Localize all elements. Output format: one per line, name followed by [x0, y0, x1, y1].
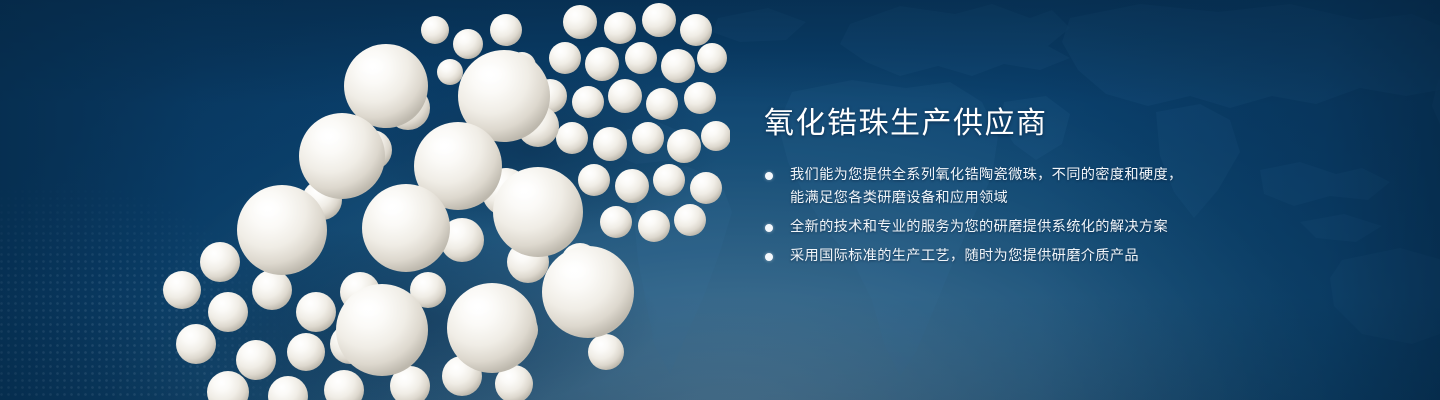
hero-banner: 氧化锆珠生产供应商 我们能为您提供全系列氧化锆陶瓷微珠，不同的密度和硬度， 能满… — [0, 0, 1440, 400]
list-item-line: 能满足您各类研磨设备和应用领域 — [790, 187, 1234, 210]
list-item: 我们能为您提供全系列氧化锆陶瓷微珠，不同的密度和硬度， 能满足您各类研磨设备和应… — [764, 164, 1234, 210]
page-title: 氧化锆珠生产供应商 — [764, 104, 1234, 144]
feature-list: 我们能为您提供全系列氧化锆陶瓷微珠，不同的密度和硬度， 能满足您各类研磨设备和应… — [764, 164, 1234, 268]
list-item: 全新的技术和专业的服务为您的研磨提供系统化的解决方案 — [764, 216, 1234, 239]
dot-bullet-icon — [765, 172, 773, 180]
banner-copy: 氧化锆珠生产供应商 我们能为您提供全系列氧化锆陶瓷微珠，不同的密度和硬度， 能满… — [764, 104, 1234, 268]
dot-bullet-icon — [765, 253, 773, 261]
list-item-line: 我们能为您提供全系列氧化锆陶瓷微珠，不同的密度和硬度， — [790, 164, 1234, 187]
list-item: 采用国际标准的生产工艺，随时为您提供研磨介质产品 — [764, 245, 1234, 268]
list-item-line: 全新的技术和专业的服务为您的研磨提供系统化的解决方案 — [790, 216, 1234, 239]
list-item-line: 采用国际标准的生产工艺，随时为您提供研磨介质产品 — [790, 245, 1234, 268]
dot-bullet-icon — [765, 224, 773, 232]
